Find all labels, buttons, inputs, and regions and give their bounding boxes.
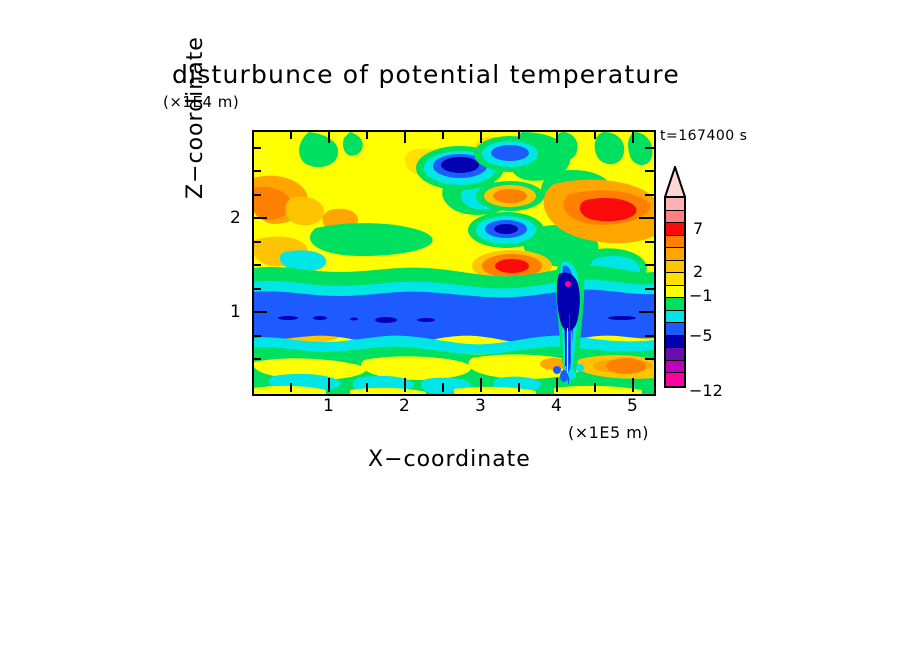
colorbar	[664, 196, 686, 388]
x-axis-label: X−coordinate	[368, 447, 531, 472]
colorbar-label-minus1: −1	[689, 286, 713, 305]
colorbar-band	[666, 298, 684, 311]
colorbar-band	[666, 361, 684, 374]
x-tick-label-1: 1	[323, 396, 334, 416]
y-tick-label-2: 2	[230, 208, 241, 228]
colorbar-band	[666, 373, 684, 386]
colorbar-label-minus5: −5	[689, 326, 713, 345]
colorbar-band	[666, 311, 684, 324]
figure-canvas: disturbunce of potential temperature (×1…	[0, 0, 904, 654]
colorbar-band	[666, 336, 684, 349]
colorbar-band	[666, 223, 684, 236]
x-tick-label-3: 3	[475, 396, 486, 416]
y-tick-label-1: 1	[230, 302, 241, 322]
colorbar-band	[666, 198, 684, 211]
colorbar-band	[666, 273, 684, 286]
y-axis-label: Z−coordinate	[183, 173, 208, 199]
colorbar-band	[666, 348, 684, 361]
colorbar-label-2: 2	[693, 262, 703, 281]
colorbar-arrow-tip	[664, 166, 686, 198]
page-title: disturbunce of potential temperature	[172, 60, 680, 89]
x-axis-unit-label: (×1E5 m)	[568, 423, 649, 442]
contour-plot-area	[252, 130, 656, 396]
colorbar-band	[666, 211, 684, 224]
colorbar-label-7: 7	[693, 219, 703, 238]
colorbar-band	[666, 248, 684, 261]
x-tick-label-4: 4	[551, 396, 562, 416]
x-tick-label-5: 5	[627, 396, 638, 416]
colorbar-label-minus12: −12	[689, 381, 723, 400]
colorbar-band	[666, 323, 684, 336]
colorbar-band	[666, 236, 684, 249]
x-tick-label-2: 2	[399, 396, 410, 416]
colorbar-band	[666, 286, 684, 299]
colorbar-band	[666, 261, 684, 274]
time-annotation: t=167400 s	[660, 128, 747, 144]
